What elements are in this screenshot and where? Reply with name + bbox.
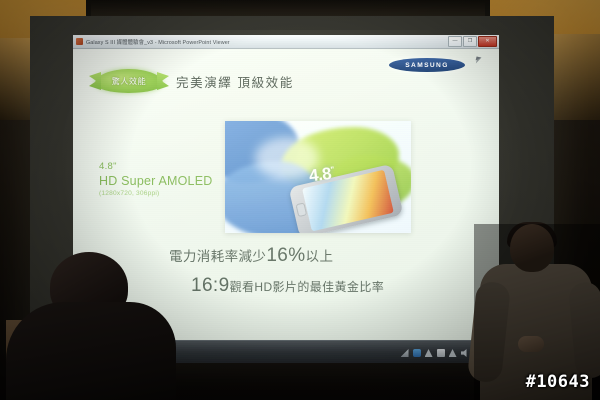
statement-power: 電力消耗率減少16%以上 [169,245,333,267]
samsung-logo: SAMSUNG [389,58,465,72]
samsung-logo-text: SAMSUNG [405,62,449,69]
statement-power-highlight: 16% [266,245,305,266]
window-titlebar[interactable]: Galaxy S III 媒體體驗會_v3 - Microsoft PowerP… [73,35,499,49]
spec-resolution: (1280x720, 306ppi) [99,190,212,198]
window-title: Galaxy S III 媒體體驗會_v3 - Microsoft PowerP… [86,38,448,46]
window-controls: — ❐ ✕ [448,36,497,47]
person-left-body [6,302,176,400]
photo-size-overlay: 4.8" [308,164,336,187]
bluetooth-icon[interactable] [413,349,421,357]
statement-ratio: 16:9觀看HD影片的最佳黃金比率 [191,275,384,297]
leaf-badge: 驚人效能 [95,69,163,93]
mouse-cursor-icon [476,56,482,61]
statement-power-prefix: 電力消耗率減少 [169,249,266,264]
slide-header: 驚人效能 完美演繹 頂級效能 [95,69,294,93]
spec-block: 4.8" HD Super AMOLED (1280x720, 306ppi) [99,161,212,199]
signal-icon[interactable] [449,349,457,357]
slide-headline: 完美演繹 頂級效能 [176,72,294,91]
document-icon[interactable] [437,349,445,357]
photo-size-value: 4.8 [308,164,332,186]
network-icon[interactable] [401,349,409,357]
close-button[interactable]: ✕ [478,36,497,47]
powerpoint-icon [76,38,83,45]
spec-size: 4.8" [99,161,212,173]
volume-icon[interactable] [461,349,469,357]
show-hidden-icons[interactable] [425,349,433,357]
spec-display: HD Super AMOLED [99,173,212,189]
watermark: #10643 [526,372,590,392]
maximize-button[interactable]: ❐ [463,36,477,47]
audience-person-left [6,250,176,400]
statement-ratio-suffix: 觀看HD影片的最佳黃金比率 [230,280,385,294]
statement-ratio-highlight: 16:9 [191,275,230,296]
statement-power-suffix: 以上 [306,249,334,264]
minimize-button[interactable]: — [448,36,462,47]
product-photo: 4.8" [225,121,411,233]
leaf-badge-label: 驚人效能 [112,76,146,87]
projection-room-scene: Galaxy S III 媒體體驗會_v3 - Microsoft PowerP… [0,0,600,400]
